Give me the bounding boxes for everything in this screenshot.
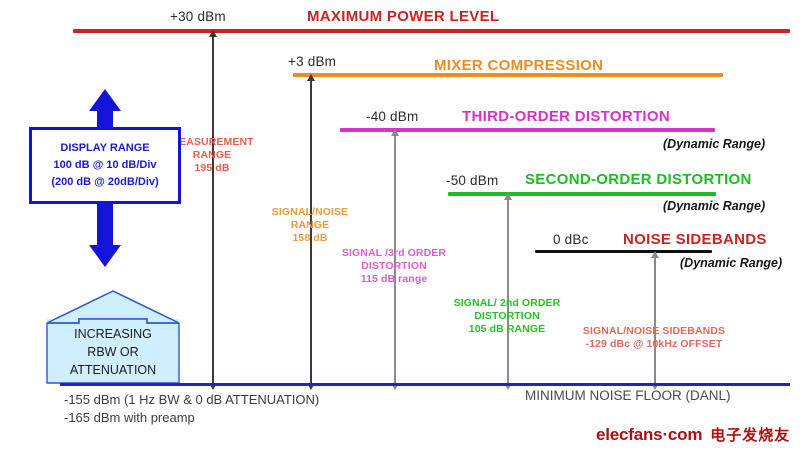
band-title-mixer-compression: MIXER COMPRESSION xyxy=(434,57,603,74)
measure-arrow-measurement-range xyxy=(212,36,214,384)
display-range-arrow-down-icon xyxy=(89,245,121,267)
display-range-arrow-up-icon xyxy=(89,89,121,111)
level-value-mixer-compression: +3 dBm xyxy=(288,54,336,69)
band-title-maximum-power: MAXIMUM POWER LEVEL xyxy=(307,8,499,25)
annotation-line: RANGE xyxy=(250,219,370,232)
annotation-signal-second-order: SIGNAL/ 2nd ORDER DISTORTION 105 dB RANG… xyxy=(443,297,571,336)
display-range-box: DISPLAY RANGE 100 dB @ 10 dB/Div (200 dB… xyxy=(29,127,181,204)
arrow-head-up-icon xyxy=(651,251,659,258)
measure-arrow-signal-noise-sidebands xyxy=(654,257,656,384)
arrow-head-up-icon xyxy=(504,193,512,200)
elecfans-watermark: elecfans·com电子发烧友 xyxy=(596,424,790,445)
rbw-line-1: INCREASING xyxy=(43,325,183,343)
dynamic-range-note-noise-sidebands: (Dynamic Range) xyxy=(680,256,782,270)
arrow-head-up-icon xyxy=(307,74,315,81)
minimum-noise-floor-line xyxy=(60,383,790,386)
annotation-line: -129 dBc @ 10kHz OFFSET xyxy=(576,338,732,351)
annotation-line: DISTORTION xyxy=(443,310,571,323)
band-title-second-order-distortion: SECOND-ORDER DISTORTION xyxy=(525,171,752,188)
annotation-line: 115 dB range xyxy=(330,273,458,286)
dynamic-range-diagram: +30 dBm +3 dBm -40 dBm -50 dBm 0 dBc MAX… xyxy=(0,0,806,454)
band-title-noise-sidebands: NOISE SIDEBANDS xyxy=(623,231,767,248)
increasing-rbw-attenuation-arrow: INCREASING RBW OR ATTENUATION xyxy=(43,289,183,385)
display-range-detail-2: (200 dB @ 20dB/Div) xyxy=(51,174,158,191)
level-value-third-order: -40 dBm xyxy=(366,109,418,124)
level-line-maximum-power xyxy=(73,29,790,33)
level-value-maximum-power: +30 dBm xyxy=(170,9,226,24)
annotation-line: DISTORTION xyxy=(330,260,458,273)
level-value-second-order: -50 dBm xyxy=(446,173,498,188)
dynamic-range-note-second-order: (Dynamic Range) xyxy=(663,199,765,213)
arrow-head-up-icon xyxy=(391,129,399,136)
annotation-signal-noise-range: SIGNAL/NOISE RANGE 158 dB xyxy=(250,206,370,245)
noise-floor-note-line-1: -155 dBm (1 Hz BW & 0 dB ATTENUATION) xyxy=(64,391,319,409)
noise-floor-note: -155 dBm (1 Hz BW & 0 dB ATTENUATION) -1… xyxy=(64,391,319,428)
level-value-noise-sidebands: 0 dBc xyxy=(553,232,589,247)
rbw-line-3: ATTENUATION xyxy=(43,361,183,379)
minimum-noise-floor-label: MINIMUM NOISE FLOOR (DANL) xyxy=(525,388,731,403)
dynamic-range-note-third-order: (Dynamic Range) xyxy=(663,137,765,151)
watermark-cn: 电子发烧友 xyxy=(710,427,790,444)
annotation-line: SIGNAL/NOISE xyxy=(250,206,370,219)
level-line-second-order-distortion xyxy=(448,192,716,196)
annotation-line: SIGNAL/NOISE SIDEBANDS xyxy=(576,325,732,338)
level-line-noise-sidebands xyxy=(535,250,712,253)
display-range-detail-1: 100 dB @ 10 dB/Div xyxy=(53,157,156,174)
annotation-line: SIGNAL/ 2nd ORDER xyxy=(443,297,571,310)
annotation-signal-noise-sidebands: SIGNAL/NOISE SIDEBANDS -129 dBc @ 10kHz … xyxy=(576,325,732,351)
annotation-line: 158 dB xyxy=(250,232,370,245)
rbw-line-2: RBW OR xyxy=(43,343,183,361)
band-title-third-order-distortion: THIRD-ORDER DISTORTION xyxy=(462,108,670,125)
arrow-head-up-icon xyxy=(209,30,217,37)
increasing-rbw-label: INCREASING RBW OR ATTENUATION xyxy=(43,325,183,379)
noise-floor-note-line-2: -165 dBm with preamp xyxy=(64,409,319,427)
annotation-line: 105 dB RANGE xyxy=(443,323,571,336)
watermark-site: elecfans·com xyxy=(596,425,702,444)
measure-arrow-signal-second-order xyxy=(507,199,509,384)
display-range-title: DISPLAY RANGE xyxy=(60,140,149,157)
display-range-arrow-shaft-bottom xyxy=(97,201,113,247)
annotation-line: SIGNAL /3rd ORDER xyxy=(330,247,458,260)
annotation-signal-third-order: SIGNAL /3rd ORDER DISTORTION 115 dB rang… xyxy=(330,247,458,286)
